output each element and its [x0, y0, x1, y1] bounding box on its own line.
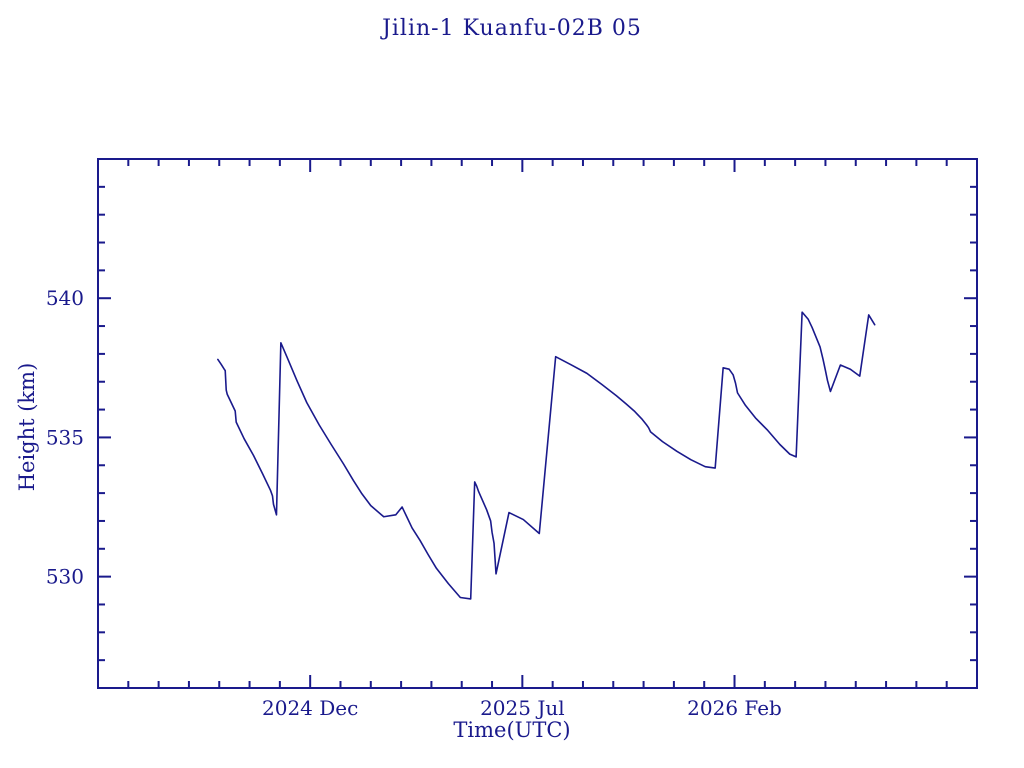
plot-frame	[98, 159, 977, 688]
y-tick-label: 530	[46, 565, 84, 589]
x-tick-label: 2024 Dec	[262, 696, 358, 720]
x-tick-label: 2025 Jul	[480, 696, 565, 720]
x-axis-ticks	[98, 159, 977, 688]
y-axis-ticks	[98, 159, 977, 688]
chart-page: Jilin-1 Kuanfu-02B 05 540535530 2024 Dec…	[0, 0, 1024, 768]
x-axis-tick-labels: 2024 Dec2025 Jul2026 Feb	[262, 696, 782, 720]
y-axis-tick-labels: 540535530	[46, 286, 84, 588]
y-tick-label: 535	[46, 425, 84, 449]
x-tick-label: 2026 Feb	[687, 696, 782, 720]
orbit-height-chart: 540535530 2024 Dec2025 Jul2026 Feb	[0, 0, 1024, 768]
y-axis-label: Height (km)	[15, 337, 39, 517]
y-tick-label: 540	[46, 286, 84, 310]
x-axis-label: Time(UTC)	[0, 718, 1024, 742]
series-line-orbit-height	[218, 312, 875, 599]
data-series-layer	[218, 312, 875, 599]
